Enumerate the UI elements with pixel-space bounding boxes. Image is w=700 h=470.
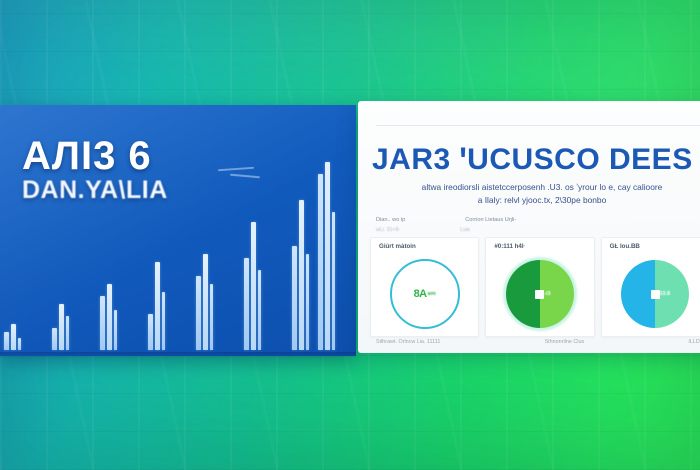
bar-group (100, 284, 117, 350)
dashboard-subtext-line-2: a Ilaly: relvl yjooc.tx, 2\30pe bonbo (376, 194, 700, 207)
left-blue-panel: AЛI3 6 DAN.YA\LIA (0, 105, 356, 356)
bar-group (318, 162, 335, 350)
bar (292, 246, 297, 350)
bar (155, 262, 160, 350)
chart-card-blue-split-title: GŁ lou.BB (610, 243, 640, 250)
donut-center-unit: ʁm (428, 291, 436, 297)
bar (148, 314, 153, 350)
bar (325, 162, 330, 350)
pie-center-label: -/3 (544, 291, 550, 297)
bar-group (148, 262, 165, 350)
bar-group (244, 222, 261, 350)
dashboard-headline: JAR3 ꞌUCUSCO DEES (372, 143, 700, 177)
chart-card-row: Giúrt màtoin 8A ʁm #0:111 h4ŀ (370, 237, 700, 337)
meta2-label-left: wLi. 31+8- (376, 227, 400, 233)
bar (66, 316, 69, 350)
pie-chart-green: -/3 (506, 260, 574, 328)
bar (107, 284, 112, 350)
chart-card-blue-split[interactable]: GŁ lou.BB 33.8 (601, 237, 700, 337)
poster-stage: AЛI3 6 DAN.YA\LIA JAR3 ꞌUCUSCO DEES altw… (0, 0, 700, 470)
bar (299, 200, 304, 350)
donut-chart: 8A ʁm (390, 259, 460, 329)
bar-group (52, 304, 69, 350)
bar (162, 292, 165, 350)
dashboard-meta-row: Dian.. wo ip Corrion Lietaus Uŋli- (376, 217, 700, 223)
pie-center-label-blue: 33.8 (659, 291, 670, 297)
footer-item-3: ILLDIJ (688, 339, 700, 345)
meta-label-left: Dian.. wo ip (376, 217, 405, 223)
chart-card-count[interactable]: Giúrt màtoin 8A ʁm (370, 237, 479, 337)
bar-group (4, 324, 21, 350)
bar (332, 212, 335, 350)
right-dashboard-panel: JAR3 ꞌUCUSCO DEES altwa ireodiorsli aist… (358, 101, 700, 353)
dashboard-subtext: altwa ireodiorsli aistetccerposenh .U3. … (376, 181, 700, 207)
panel-divider-rule (376, 125, 700, 126)
chart-card-blue-split-viz: 33.8 (602, 256, 700, 332)
dashboard-footer: Sithrawt. Orlncw Lia. 11111 Sthnonrilne … (376, 339, 700, 345)
footer-item-1: Sithrawt. Orlncw Lia. 11111 (376, 339, 440, 345)
bar (210, 284, 213, 350)
bar (59, 304, 64, 350)
bar (251, 222, 256, 350)
bar-group (196, 254, 213, 350)
bar (11, 324, 16, 350)
chart-card-green-split-viz: -/3 (486, 256, 593, 332)
bar (114, 310, 117, 350)
bar (52, 328, 57, 350)
chart-card-green-split-title: #0:111 h4ŀ (494, 243, 525, 250)
meta-label-right: Corrion Lietaus Uŋli- (465, 217, 516, 223)
hero-headline: AЛI3 6 (22, 137, 312, 175)
bar (196, 276, 201, 350)
chart-card-count-viz: 8A ʁm (371, 256, 478, 332)
bar (258, 270, 261, 350)
hero-subheadline: DAN.YA\LIA (22, 177, 312, 203)
bar (203, 254, 208, 350)
donut-center-value: 8A (414, 288, 427, 300)
dashboard-subtext-line-1: altwa ireodiorsli aistetccerposenh .U3. … (376, 181, 700, 194)
bar (18, 338, 21, 350)
chart-card-count-title: Giúrt màtoin (379, 243, 416, 250)
bar-group (292, 200, 309, 350)
bar (306, 254, 309, 350)
pie-chart-blue: 33.8 (621, 260, 689, 328)
chart-card-green-split[interactable]: #0:111 h4ŀ -/3 (485, 237, 594, 337)
dashboard-meta-row-secondary: wLi. 31+8- Luw. (376, 227, 700, 233)
bar (244, 258, 249, 350)
hero-text-block: AЛI3 6 DAN.YA\LIA (22, 137, 312, 203)
bar (100, 296, 105, 350)
footer-item-2: Sthnonrilne Clus (545, 339, 585, 345)
meta2-label-right: Luw. (460, 227, 471, 233)
bar (4, 332, 9, 350)
bar (318, 174, 323, 350)
